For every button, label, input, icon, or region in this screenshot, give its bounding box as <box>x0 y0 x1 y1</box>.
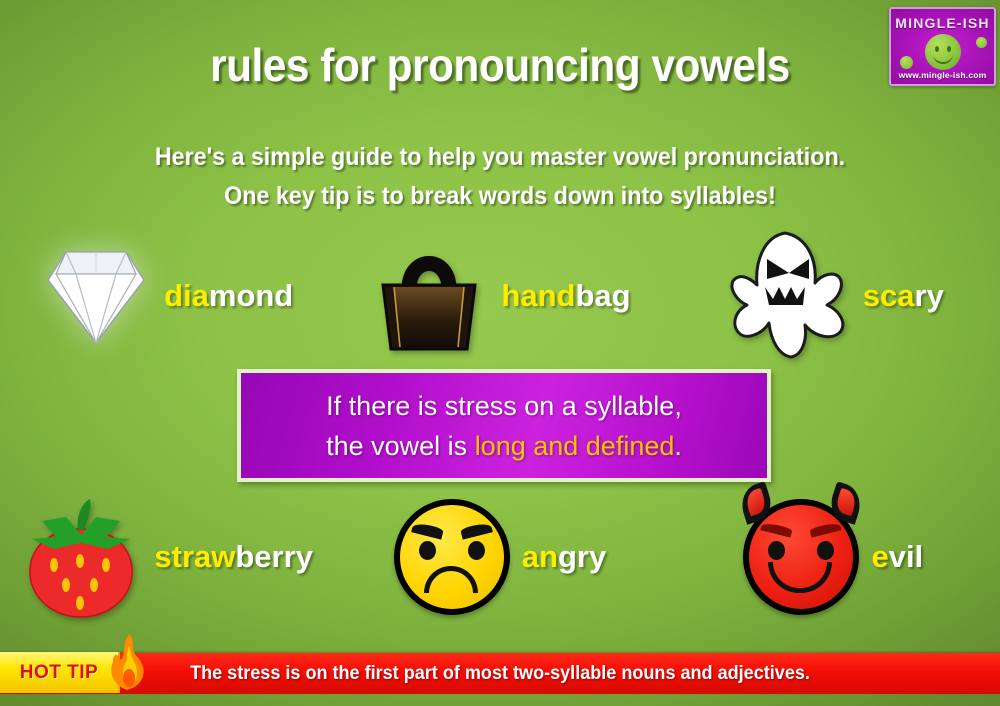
strawberry-icon <box>20 495 142 619</box>
example-item-scary: scary <box>667 228 1000 363</box>
example-row-bottom: strawberry angry <box>0 488 1000 626</box>
unstressed-syllable: vil <box>889 539 923 574</box>
callout-line-2-prefix: the vowel is <box>326 431 475 461</box>
smile-mouth <box>768 562 832 593</box>
eyebrow-right <box>460 521 493 539</box>
example-item-evil: evil <box>667 488 1000 626</box>
hot-tip-badge-label: HOT TIP <box>20 662 98 684</box>
page-subtitle: Here's a simple guide to help you master… <box>35 138 965 216</box>
stressed-syllable: straw <box>154 539 235 574</box>
flame-icon <box>105 632 151 692</box>
unstressed-syllable: bag <box>575 278 630 313</box>
eyebrow-left <box>411 521 444 539</box>
logo-brand-text: MINGLE-ISH <box>891 15 994 31</box>
callout-highlight-text: long and defined <box>475 431 675 461</box>
eye-left <box>768 541 785 560</box>
horn-right <box>827 481 867 525</box>
diamond-icon <box>40 244 152 348</box>
infographic-poster: MINGLE-ISH www.mingle-ish.com rules for … <box>0 0 1000 706</box>
example-item-diamond: diamond <box>0 228 333 363</box>
hot-tip-text: The stress is on the first part of most … <box>25 653 975 694</box>
word-diamond: diamond <box>164 278 293 314</box>
example-row-top: diamond han <box>0 228 1000 363</box>
eye-right <box>817 541 834 560</box>
callout-line-1: If there is stress on a syllable, <box>326 386 682 426</box>
example-item-strawberry: strawberry <box>0 488 333 626</box>
eye-left <box>419 541 436 560</box>
angry-face-icon <box>394 499 510 615</box>
subtitle-line-2: One key tip is to break words down into … <box>35 177 965 216</box>
logo-bubble-icon-right <box>976 37 987 48</box>
eyebrow-right <box>810 521 842 537</box>
unstressed-syllable: berry <box>235 539 313 574</box>
unstressed-syllable: ry <box>915 278 944 313</box>
word-strawberry: strawberry <box>154 539 313 575</box>
unstressed-syllable: gry <box>558 539 606 574</box>
word-evil: evil <box>871 539 923 575</box>
page-title: rules for pronouncing vowels <box>40 38 960 92</box>
stressed-syllable: sca <box>863 278 915 313</box>
word-angry: angry <box>522 539 606 575</box>
ghost-icon <box>723 229 851 362</box>
stressed-syllable: e <box>871 539 888 574</box>
word-handbag: handbag <box>501 278 630 314</box>
frown-mouth <box>424 566 478 593</box>
word-scary: scary <box>863 278 944 314</box>
stressed-syllable: dia <box>164 278 209 313</box>
eyebrow-left <box>761 521 793 537</box>
rule-callout-box: If there is stress on a syllable, the vo… <box>237 369 771 482</box>
stressed-syllable: an <box>522 539 558 574</box>
unstressed-syllable: mond <box>209 278 293 313</box>
eye-right <box>468 541 485 560</box>
stressed-syllable: hand <box>501 278 575 313</box>
horn-left <box>737 481 777 525</box>
hot-tip-badge: HOT TIP <box>0 652 120 693</box>
devil-face-icon <box>743 499 859 615</box>
callout-line-2-suffix: . <box>674 431 682 461</box>
callout-line-2: the vowel is long and defined. <box>326 426 682 466</box>
handbag-icon <box>369 237 489 355</box>
example-item-angry: angry <box>333 488 666 626</box>
example-item-handbag: handbag <box>333 228 666 363</box>
subtitle-line-1: Here's a simple guide to help you master… <box>35 138 965 177</box>
